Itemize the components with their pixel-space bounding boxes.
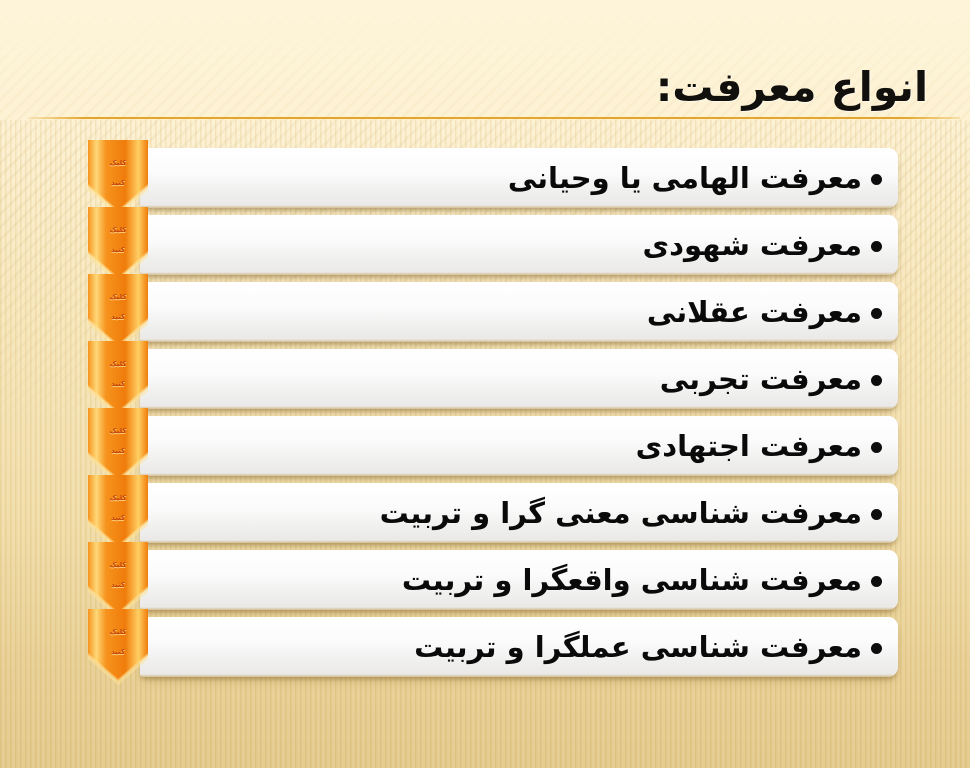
list-item-label: معرفت عقلانی <box>647 298 862 327</box>
bullet-point-icon <box>871 442 882 453</box>
list-item-label: معرفت شناسی معنی گرا و تربیت <box>380 499 862 528</box>
list-item-label: معرفت تجربی <box>660 365 862 394</box>
list-item-6[interactable]: کلیک کنید معرفت شناسی معنی گرا و تربیت <box>0 483 970 543</box>
list-item-5[interactable]: کلیک کنید معرفت اجتهادی <box>0 416 970 476</box>
bullet-point-icon <box>871 509 882 520</box>
click-here-chevron-icon[interactable]: کلیک کنید <box>88 140 148 216</box>
bullet-point-icon <box>871 174 882 185</box>
list-item-label: معرفت شناسی واقعگرا و تربیت <box>402 566 862 595</box>
click-here-chevron-icon[interactable]: کلیک کنید <box>88 274 148 350</box>
list-item-label: معرفت اجتهادی <box>636 432 862 461</box>
list-item-card[interactable]: معرفت عقلانی <box>140 282 898 342</box>
list-item-card[interactable]: معرفت تجربی <box>140 349 898 409</box>
list-item-label: معرفت الهامی یا وحیانی <box>508 164 862 193</box>
bullet-point-icon <box>871 576 882 587</box>
list-item-card[interactable]: معرفت شناسی واقعگرا و تربیت <box>140 550 898 610</box>
list-item-label: معرفت شهودی <box>643 231 862 260</box>
click-here-chevron-icon[interactable]: کلیک کنید <box>88 408 148 484</box>
slide-title-bar: انواع معرفت: <box>0 56 970 118</box>
click-here-chevron-icon[interactable]: کلیک کنید <box>88 207 148 283</box>
click-here-chevron-icon[interactable]: کلیک کنید <box>88 609 148 685</box>
click-here-chevron-icon[interactable]: کلیک کنید <box>88 341 148 417</box>
bullet-point-icon <box>871 308 882 319</box>
list-item-card[interactable]: معرفت الهامی یا وحیانی <box>140 148 898 208</box>
bullet-point-icon <box>871 241 882 252</box>
list-item-2[interactable]: کلیک کنید معرفت شهودی <box>0 215 970 275</box>
list-item-card[interactable]: معرفت شهودی <box>140 215 898 275</box>
click-here-chevron-icon[interactable]: کلیک کنید <box>88 542 148 618</box>
click-here-chevron-icon[interactable]: کلیک کنید <box>88 475 148 551</box>
list-item-label: معرفت شناسی عملگرا و تربیت <box>414 633 862 662</box>
list-item-7[interactable]: کلیک کنید معرفت شناسی واقعگرا و تربیت <box>0 550 970 610</box>
page-title: انواع معرفت: <box>656 67 928 108</box>
list-item-card[interactable]: معرفت شناسی معنی گرا و تربیت <box>140 483 898 543</box>
list-item-1[interactable]: کلیک کنید معرفت الهامی یا وحیانی <box>0 148 970 208</box>
list-item-card[interactable]: معرفت شناسی عملگرا و تربیت <box>140 617 898 677</box>
bullet-point-icon <box>871 643 882 654</box>
presentation-slide: انواع معرفت: کلیک ک <box>0 0 970 768</box>
bullet-point-icon <box>871 375 882 386</box>
list-item-8[interactable]: کلیک کنید معرفت شناسی عملگرا و تربیت <box>0 617 970 677</box>
list-item-4[interactable]: کلیک کنید معرفت تجربی <box>0 349 970 409</box>
list-item-card[interactable]: معرفت اجتهادی <box>140 416 898 476</box>
list-item-3[interactable]: کلیک کنید معرفت عقلانی <box>0 282 970 342</box>
knowledge-types-list: کلیک کنید معرفت الهامی یا وحیانی <box>0 148 970 684</box>
